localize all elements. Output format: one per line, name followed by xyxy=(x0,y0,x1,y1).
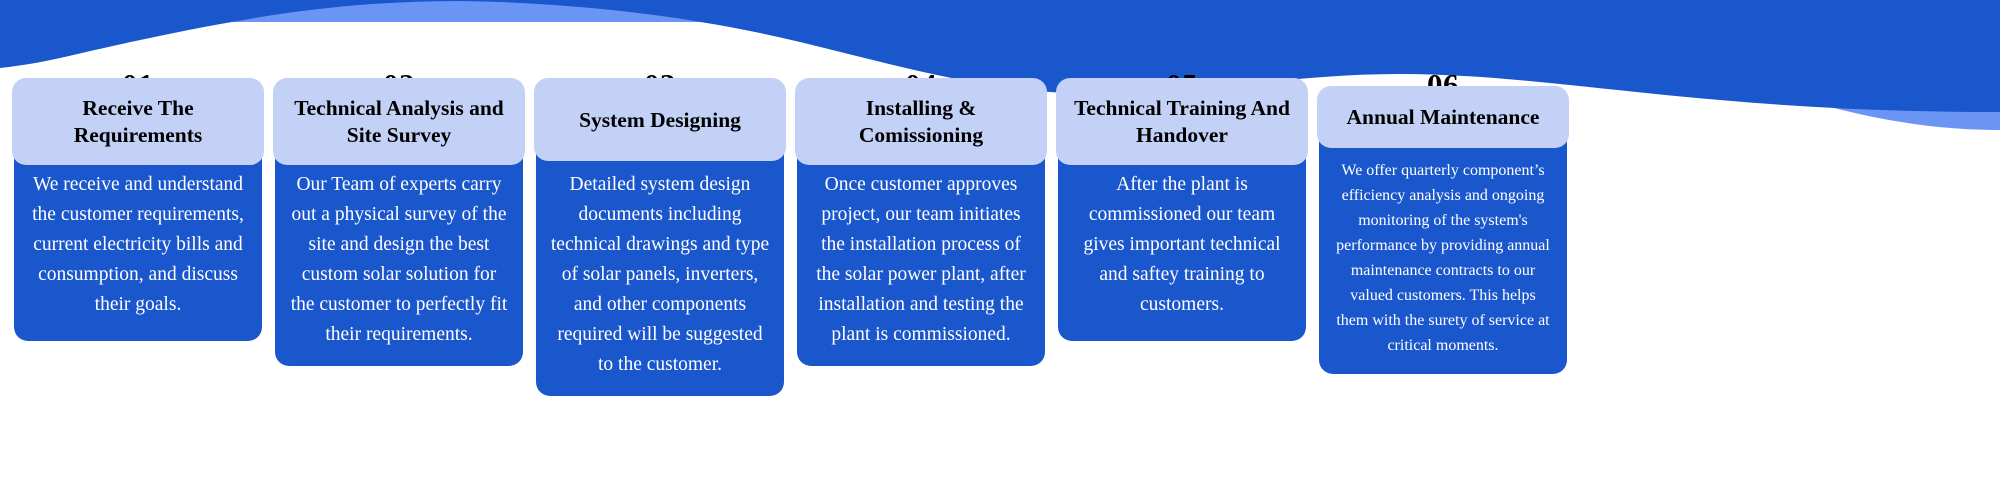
card-title-06: Annual Maintenance xyxy=(1317,86,1569,148)
card-body-05: Technical Training And Handover After th… xyxy=(1058,106,1306,341)
card-title-03: System Designing xyxy=(534,78,786,161)
card-title-04: Installing & Comissioning xyxy=(795,78,1047,165)
card-description-02: Our Team of experts carry out a physical… xyxy=(291,174,508,345)
card-description-01: We receive and understand the customer r… xyxy=(32,174,244,315)
card-body-03: System Designing Detailed system design … xyxy=(536,106,784,396)
card-body-06: Annual Maintenance We offer quarterly co… xyxy=(1319,106,1567,374)
process-step-card-02[interactable]: 02 Technical Analysis and Site Survey Ou… xyxy=(275,68,523,366)
card-stack-06: Annual Maintenance We offer quarterly co… xyxy=(1319,106,1567,374)
process-steps-row: 01 Receive The Requirements We receive a… xyxy=(14,68,2000,488)
card-body-02: Technical Analysis and Site Survey Our T… xyxy=(275,106,523,366)
card-stack-01: Receive The Requirements We receive and … xyxy=(14,106,262,341)
card-description-06: We offer quarterly component’s efficienc… xyxy=(1336,162,1550,354)
process-step-card-03[interactable]: 03 System Designing Detailed system desi… xyxy=(536,68,784,396)
card-title-05: Technical Training And Handover xyxy=(1056,78,1308,165)
card-stack-03: System Designing Detailed system design … xyxy=(536,106,784,396)
card-body-01: Receive The Requirements We receive and … xyxy=(14,106,262,341)
process-step-card-04[interactable]: 04 Installing & Comissioning Once custom… xyxy=(797,68,1045,366)
card-stack-04: Installing & Comissioning Once customer … xyxy=(797,106,1045,366)
card-description-05: After the plant is commissioned our team… xyxy=(1083,174,1280,315)
process-step-card-05[interactable]: 05 Technical Training And Handover After… xyxy=(1058,68,1306,341)
card-stack-02: Technical Analysis and Site Survey Our T… xyxy=(275,106,523,366)
card-title-01: Receive The Requirements xyxy=(12,78,264,165)
card-title-02: Technical Analysis and Site Survey xyxy=(273,78,525,165)
card-body-04: Installing & Comissioning Once customer … xyxy=(797,106,1045,366)
process-infographic: 01 Receive The Requirements We receive a… xyxy=(0,0,2000,500)
process-step-card-01[interactable]: 01 Receive The Requirements We receive a… xyxy=(14,68,262,341)
process-step-card-06[interactable]: 06 Annual Maintenance We offer quarterly… xyxy=(1319,68,1567,374)
card-description-03: Detailed system design documents includi… xyxy=(551,174,769,375)
card-description-04: Once customer approves project, our team… xyxy=(816,174,1026,345)
card-stack-05: Technical Training And Handover After th… xyxy=(1058,106,1306,341)
